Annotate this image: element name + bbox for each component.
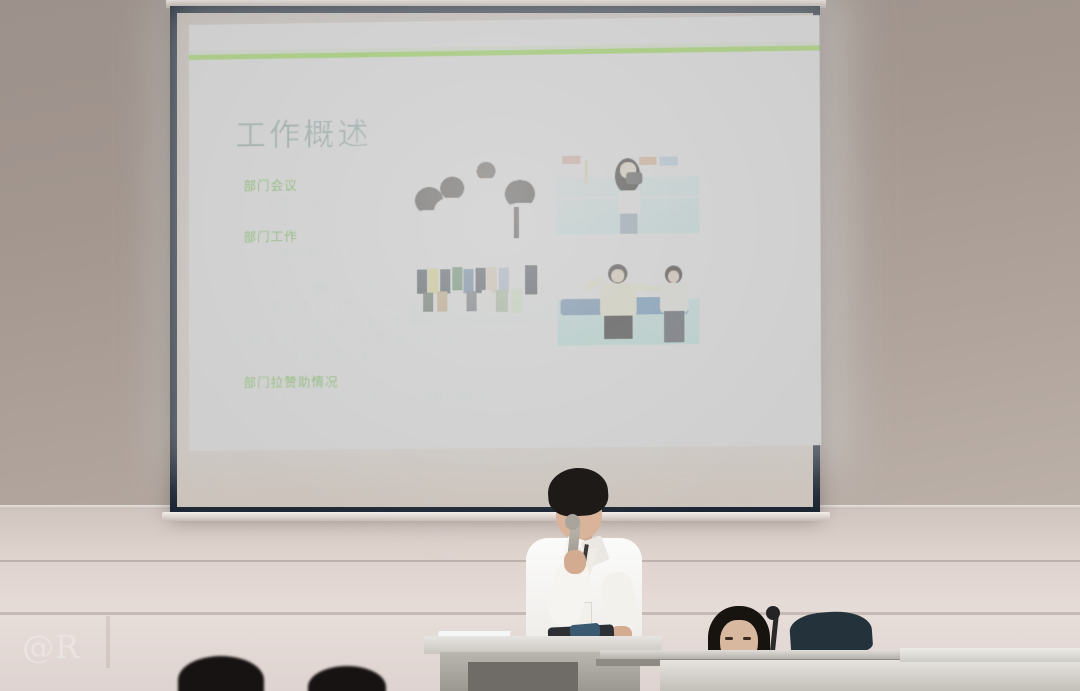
bullet-marker: ·: [233, 179, 237, 195]
seated-host-eye-left: [725, 637, 733, 640]
bullet-marker: ·: [233, 230, 237, 246]
gym-exercise-photo: [557, 241, 699, 346]
screen-bottom-ledge: [162, 512, 830, 521]
projection-screen: 工作概述 · 部门会议 各家都一共召开了2次例行会议。 · 部门工作 主办校园文…: [170, 6, 820, 514]
lecture-hall-scene: 工作概述 · 部门会议 各家都一共召开了2次例行会议。 · 部门工作 主办校园文…: [0, 0, 1080, 691]
watermark: @R: [22, 628, 80, 666]
meeting-photo: [412, 138, 554, 244]
megaphone-photo: [556, 134, 699, 235]
seated-host-eye-right: [743, 637, 751, 640]
group-photo: [408, 253, 555, 325]
bullet-heading: 部门工作: [244, 229, 298, 246]
bullet-item-sponsorship: · 部门拉赞助情况: [233, 372, 535, 391]
microphone-head-icon: [565, 514, 580, 530]
gooseneck-microphone-head-icon: [766, 606, 780, 620]
bullet-sub-line: 由于当前校园处于特殊情况, 本学期外联文化部: [233, 390, 535, 408]
podium-recess: [468, 662, 578, 691]
projected-slide-area: 工作概述 · 部门会议 各家都一共召开了2次例行会议。 · 部门工作 主办校园文…: [189, 15, 821, 451]
desk-front-rail: [600, 650, 900, 659]
presentation-slide: 工作概述 · 部门会议 各家都一共召开了2次例行会议。 · 部门工作 主办校园文…: [189, 15, 821, 451]
bullet-heading: 部门会议: [244, 178, 298, 195]
bullet-sub-line: 协助开展送别晚会活动。: [233, 347, 535, 365]
right-desk-surface: [660, 660, 1080, 691]
wall-pipe: [106, 616, 110, 668]
bullet-sub-line: 水果拼盘设计大赛活动, 协助开展送别晚会活动;: [233, 330, 535, 348]
slide-title: 工作概述: [235, 108, 372, 155]
right-desk-ledge: [900, 648, 1080, 662]
bullet-sub-line: 没有拉出拉取赞助。: [233, 407, 535, 425]
presenter-left-hand: [564, 550, 586, 574]
bullet-marker: ·: [233, 375, 237, 391]
bullet-heading: 部门拉赞助情况: [244, 374, 339, 391]
slide-accent-bar: [189, 41, 820, 67]
presenter-hair: [546, 466, 609, 518]
